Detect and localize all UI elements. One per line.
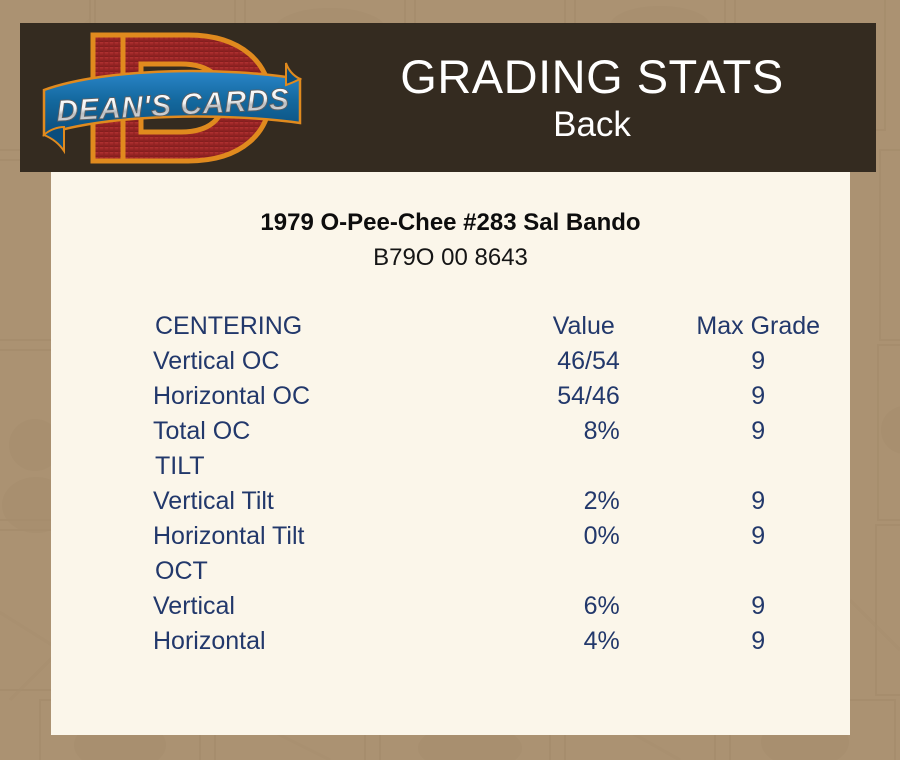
- stat-label: Vertical Tilt: [153, 487, 494, 522]
- stat-max-grade: 9: [673, 347, 843, 382]
- table-row: Total OC8%9: [153, 417, 843, 452]
- stat-value: 4%: [494, 627, 673, 662]
- stat-value: 8%: [494, 417, 673, 452]
- stat-label: Total OC: [153, 417, 494, 452]
- table-row: Vertical6%9: [153, 592, 843, 627]
- header-title-block: GRADING STATS Back: [308, 23, 876, 172]
- grading-stats-table: CENTERINGValueMax GradeVertical OC46/549…: [153, 312, 843, 662]
- stat-value: 2%: [494, 487, 673, 522]
- page-subtitle: Back: [553, 104, 631, 146]
- table-row: Horizontal OC54/469: [153, 382, 843, 417]
- table-row: Horizontal4%9: [153, 627, 843, 662]
- content-panel: 1979 O-Pee-Chee #283 Sal Bando B79O 00 8…: [51, 172, 850, 735]
- stats-section-header-row: TILT: [153, 452, 843, 487]
- table-row: Vertical Tilt2%9: [153, 487, 843, 522]
- stats-section-header-row: OCT: [153, 557, 843, 592]
- stat-max-grade: 9: [673, 627, 843, 662]
- header-bar: DEAN'S CARDS GRADING STATS Back: [20, 23, 876, 172]
- section-label-centering: CENTERING: [153, 312, 494, 347]
- column-header-value: Value: [494, 312, 673, 347]
- stat-value-text: 0%: [548, 522, 620, 551]
- stat-max-grade: 9: [673, 487, 843, 522]
- stat-max-grade: 9: [673, 522, 843, 557]
- stat-label: Horizontal: [153, 627, 494, 662]
- table-row: Horizontal Tilt0%9: [153, 522, 843, 557]
- stat-max-grade: 9: [673, 592, 843, 627]
- column-header-max-grade: Max Grade: [673, 312, 843, 347]
- stat-value: 54/46: [494, 382, 673, 417]
- stat-max-grade: 9: [673, 382, 843, 417]
- stat-max-grade: 9: [673, 417, 843, 452]
- stats-section-header-row: CENTERINGValueMax Grade: [153, 312, 843, 347]
- stats-table-body: CENTERINGValueMax GradeVertical OC46/549…: [153, 312, 843, 662]
- stat-value-text: 46/54: [548, 347, 620, 376]
- stat-value-text: 54/46: [548, 382, 620, 411]
- stat-value-text: 2%: [548, 487, 620, 516]
- stat-label: Horizontal Tilt: [153, 522, 494, 557]
- stat-label: Vertical: [153, 592, 494, 627]
- deans-cards-logo[interactable]: DEAN'S CARDS: [38, 27, 308, 169]
- stat-label: Vertical OC: [153, 347, 494, 382]
- card-title: 1979 O-Pee-Chee #283 Sal Bando: [51, 208, 850, 238]
- section-label-tilt: TILT: [153, 452, 494, 487]
- stat-value-text: 4%: [548, 627, 620, 656]
- stat-value: 0%: [494, 522, 673, 557]
- stat-label: Horizontal OC: [153, 382, 494, 417]
- table-row: Vertical OC46/549: [153, 347, 843, 382]
- stat-value: 46/54: [494, 347, 673, 382]
- card-serial-number: B79O 00 8643: [51, 242, 850, 274]
- stat-value: 6%: [494, 592, 673, 627]
- stat-value-text: 8%: [548, 417, 620, 446]
- stat-value-text: 6%: [548, 592, 620, 621]
- page-title: GRADING STATS: [400, 50, 783, 104]
- section-label-oct: OCT: [153, 557, 494, 592]
